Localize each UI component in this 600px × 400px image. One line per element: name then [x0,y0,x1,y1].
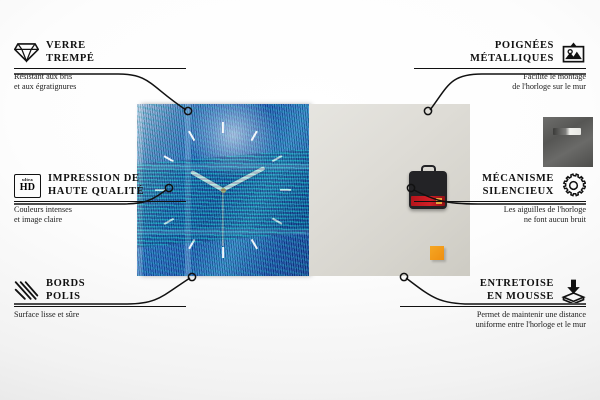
callout-bords-polis[interactable]: BORDSPOLIS Surface lisse et sûre [14,278,186,320]
clock-pivot [221,188,226,193]
hour-marker [222,190,224,260]
callout-impression-haute-qualite[interactable]: ultra HD IMPRESSION DEHAUTE QUALITÉ Coul… [14,173,186,225]
clock-hour-hand [190,170,224,192]
gear-icon [561,173,586,198]
hour-marker [187,129,224,191]
hour-marker [222,189,259,251]
callout-header: POIGNÉESMÉTALLIQUES [414,40,586,65]
callout-title: IMPRESSION DEHAUTE QUALITÉ [48,173,144,198]
diamond-icon [14,40,39,65]
callout-description: Permet de maintenir une distanceuniforme… [400,310,586,330]
callout-title: POIGNÉESMÉTALLIQUES [470,40,554,65]
foam-spacer [430,246,444,260]
callout-mecanisme-silencieux[interactable]: MÉCANISMESILENCIEUX Les aiguilles de l'h… [414,173,586,225]
callout-divider [400,306,586,307]
arrow-down-onto-layer-icon [561,278,586,303]
callout-divider [14,68,186,69]
callout-entretoise-en-mousse[interactable]: ENTRETOISEEN MOUSSE Permet de maintenir … [400,278,586,330]
callout-title: ENTRETOISEEN MOUSSE [480,278,554,303]
callout-header: VERRETREMPÉ [14,40,186,65]
callout-header: BORDSPOLIS [14,278,186,303]
callout-header: MÉCANISMESILENCIEUX [414,173,586,198]
callout-divider [14,306,186,307]
clock-minute-hand [222,166,266,192]
callout-description: Résistant aux briset aux égratignures [14,72,186,92]
hour-marker [223,189,293,191]
framed-picture-hook-icon [561,40,586,65]
callout-title: BORDSPOLIS [46,278,85,303]
hour-marker [222,154,284,191]
callout-description: Les aiguilles de l'horlogene font aucun … [414,205,586,225]
callout-divider [14,201,186,202]
callout-description: Facilite le montagede l'horloge sur le m… [414,72,586,92]
ultra-hd-icon-main: HD [20,183,36,193]
hour-marker [222,189,284,226]
callout-description: Couleurs intenseset image claire [14,205,186,225]
infographic-canvas: VERRETREMPÉ Résistant aux briset aux égr… [0,0,600,400]
metal-hanger-plate [543,117,593,167]
hour-marker [222,120,224,190]
callout-divider [414,68,586,69]
diagonal-lines-icon [14,278,39,303]
callout-title: MÉCANISMESILENCIEUX [482,173,554,198]
callout-divider [414,201,586,202]
hanger-slot [553,128,581,135]
hour-marker [222,129,259,191]
callout-header: ENTRETOISEEN MOUSSE [400,278,586,303]
callout-verre-trempe[interactable]: VERRETREMPÉ Résistant aux briset aux égr… [14,40,186,92]
callout-header: ultra HD IMPRESSION DEHAUTE QUALITÉ [14,173,186,198]
callout-description: Surface lisse et sûre [14,310,186,320]
callout-poignees-metalliques[interactable]: POIGNÉESMÉTALLIQUES Facilite le montaged… [414,40,586,92]
hour-marker [187,189,224,251]
clock-second-hand [222,190,223,246]
callout-title: VERRETREMPÉ [46,40,95,65]
ultra-hd-icon: ultra HD [14,174,41,198]
